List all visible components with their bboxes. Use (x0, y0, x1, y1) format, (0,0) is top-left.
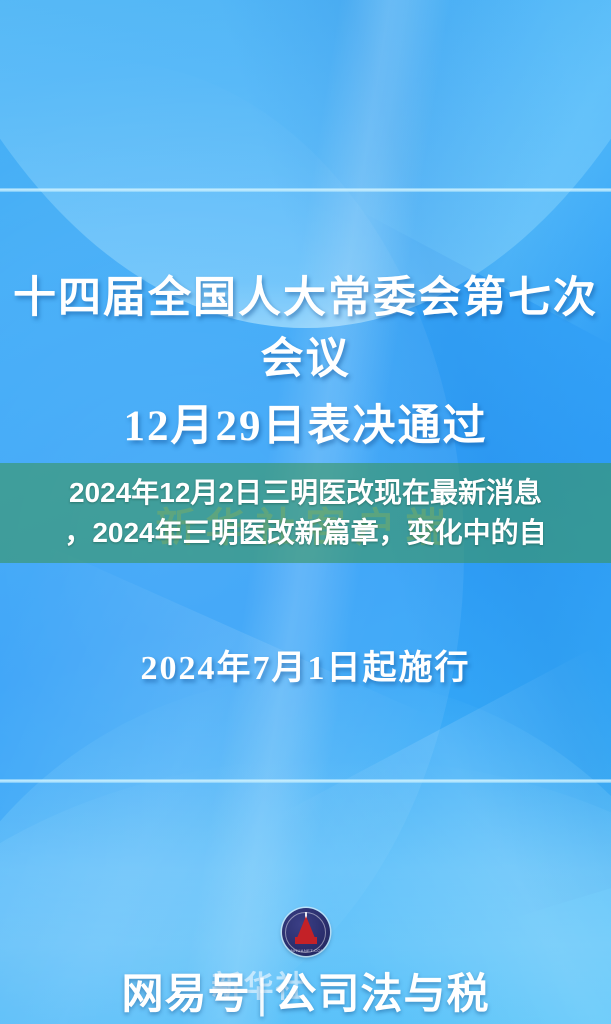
logo-wrap: XINHUANET.COM (0, 908, 611, 956)
divider-rule-top (0, 188, 611, 192)
effective-date-line: 2024年7月1日起施行 (0, 640, 611, 689)
brand-footer: XINHUANET.COM 新华社 网易号|公司法与税 (0, 908, 611, 1012)
brand-row: 新华社 网易号|公司法与税 (0, 960, 611, 1012)
platform-name: 网易号 (122, 970, 251, 1017)
poster-image: 十四届全国人大常委会第七次会议 12月29日表决通过 新华社客户端 2024年1… (0, 0, 611, 1024)
caption-line-1: 2024年12月2日三明医改现在最新消息 (0, 473, 611, 513)
account-name: 公司法与税 (274, 970, 489, 1017)
publisher-wordmark: 网易号|公司法与税 (0, 960, 611, 1021)
wordmark-separator: | (251, 970, 275, 1017)
caption-overlay-band: 2024年12月2日三明医改现在最新消息 ，2024年三明医改新篇章，变化中的自 (0, 463, 611, 563)
caption-line-2: ，2024年三明医改新篇章，变化中的自 (0, 513, 611, 553)
logo-caption-text: XINHUANET.COM (286, 948, 324, 953)
divider-rule-bottom (0, 779, 611, 783)
logo-tower (297, 916, 315, 938)
logo-base (295, 937, 317, 944)
xinhua-agency-logo-icon: XINHUANET.COM (282, 908, 330, 956)
